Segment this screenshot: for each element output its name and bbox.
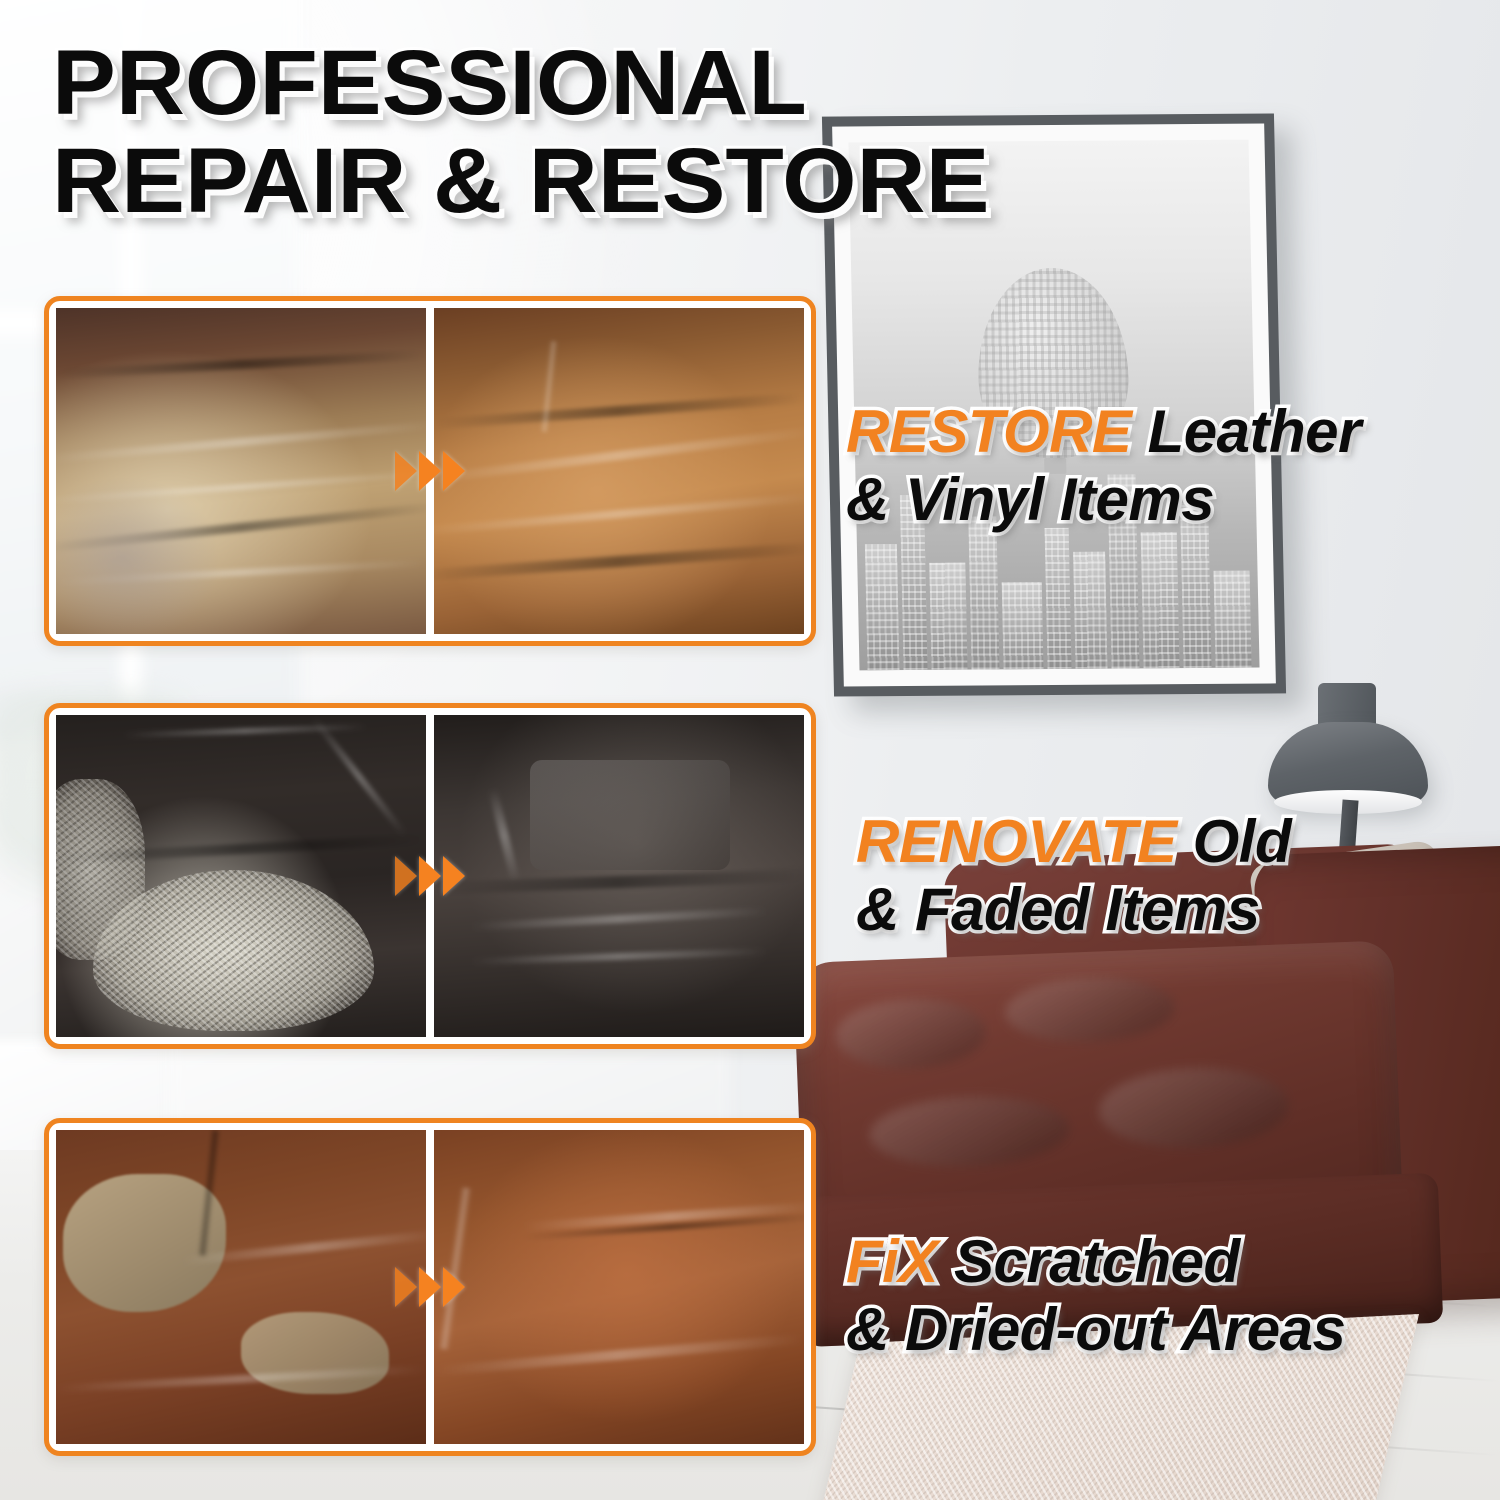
page-title: PROFESSIONAL REPAIR & RESTORE: [52, 34, 1232, 230]
comparison-panel-restore: [44, 296, 816, 646]
benefit-renovate: RENOVATE Old & Faded Items: [856, 808, 1291, 944]
benefit-restore-rest: Leather: [1131, 398, 1360, 465]
benefit-renovate-line2: & Faded Items: [856, 876, 1291, 944]
after-image-tan-sofa: [434, 308, 804, 634]
comparison-panel-renovate: [44, 703, 816, 1049]
benefit-fix: FiX Scratched & Dried-out Areas: [846, 1228, 1345, 1364]
after-image-dark-recliner: [434, 715, 804, 1037]
comparison-panel-fix: [44, 1118, 816, 1456]
benefit-fix-keyword: FiX: [846, 1228, 938, 1295]
benefit-fix-line1: FiX Scratched: [846, 1228, 1345, 1296]
benefit-renovate-keyword: RENOVATE: [856, 808, 1176, 875]
benefit-fix-rest: Scratched: [938, 1228, 1240, 1295]
before-image-tan-sofa: [56, 308, 426, 634]
benefit-fix-line2: & Dried-out Areas: [846, 1296, 1345, 1364]
benefit-restore-keyword: RESTORE: [846, 398, 1131, 465]
benefit-renovate-rest: Old: [1176, 808, 1291, 875]
benefit-restore-line2: & Vinyl Items: [846, 466, 1361, 534]
benefit-renovate-line1: RENOVATE Old: [856, 808, 1291, 876]
headline-line-2: REPAIR & RESTORE: [52, 132, 1279, 230]
before-image-dark-recliner: [56, 715, 426, 1037]
benefit-restore: RESTORE Leather & Vinyl Items: [846, 398, 1361, 534]
benefit-restore-line1: RESTORE Leather: [846, 398, 1361, 466]
after-image-brown-couch: [434, 1130, 804, 1444]
headline-line-1: PROFESSIONAL: [52, 34, 1279, 132]
before-image-brown-couch: [56, 1130, 426, 1444]
